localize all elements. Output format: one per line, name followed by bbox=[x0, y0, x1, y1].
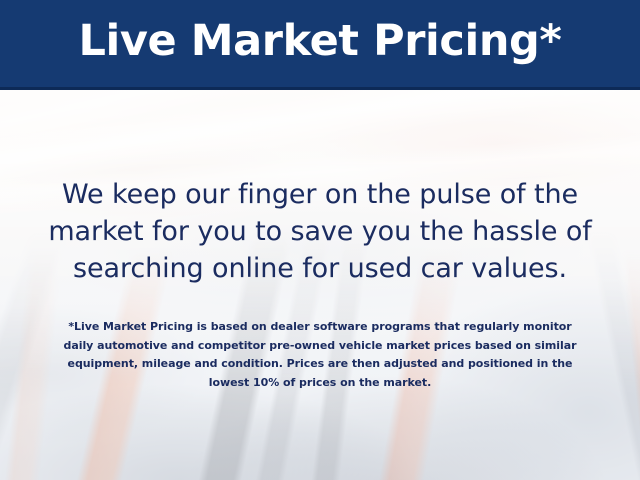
headline-line-3: searching online for used car values. bbox=[22, 250, 618, 287]
page-title: Live Market Pricing* bbox=[78, 20, 561, 67]
header-banner: Live Market Pricing* bbox=[0, 0, 640, 90]
disclaimer-line-4: lowest 10% of prices on the market. bbox=[20, 374, 620, 393]
disclaimer-line-3: equipment, mileage and condition. Prices… bbox=[20, 355, 620, 374]
disclaimer-line-1: *Live Market Pricing is based on dealer … bbox=[20, 318, 620, 337]
headline-line-1: We keep our finger on the pulse of the bbox=[22, 176, 618, 213]
headline-text: We keep our finger on the pulse of the m… bbox=[22, 176, 618, 287]
headline-line-2: market for you to save you the hassle of bbox=[22, 213, 618, 250]
disclaimer-line-2: daily automotive and competitor pre-owne… bbox=[20, 337, 620, 356]
live-market-pricing-slide: Live Market Pricing* We keep our finger … bbox=[0, 0, 640, 480]
disclaimer-text: *Live Market Pricing is based on dealer … bbox=[20, 318, 620, 392]
